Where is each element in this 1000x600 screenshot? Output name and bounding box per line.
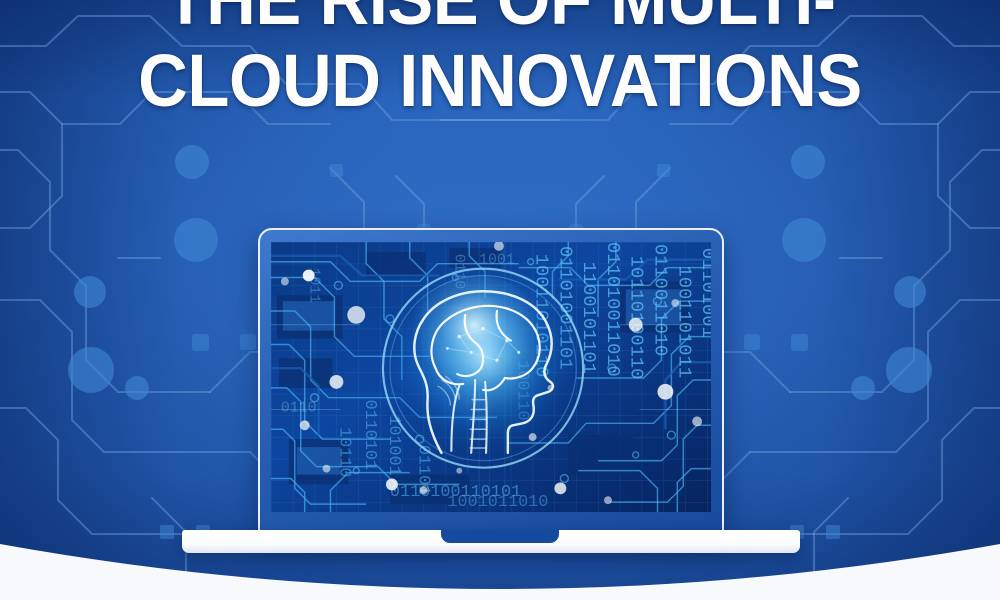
svg-text:011010011010: 011010011010 bbox=[602, 242, 624, 377]
laptop-illustration: 10011010110 01101001101 1100101101 01101… bbox=[258, 228, 742, 558]
svg-text:1001011010: 1001011010 bbox=[447, 493, 548, 512]
laptop-screen: 10011010110 01101001101 1100101101 01101… bbox=[271, 242, 711, 512]
svg-text:10110: 10110 bbox=[334, 427, 353, 477]
svg-text:0110: 0110 bbox=[281, 401, 317, 417]
poster-canvas: THE RISE OF MULTI- CLOUD INNOVATIONS bbox=[0, 0, 1000, 600]
laptop-lid: 10011010110 01101001101 1100101101 01101… bbox=[258, 228, 724, 538]
bottom-curve-decoration bbox=[0, 530, 1000, 600]
svg-text:1001101011: 1001101011 bbox=[673, 266, 695, 378]
svg-text:01101001: 01101001 bbox=[697, 248, 711, 338]
screen-ai-brain-graphic bbox=[380, 266, 586, 471]
svg-text:10110100110: 10110100110 bbox=[626, 256, 648, 380]
svg-text:0110011010: 0110011010 bbox=[649, 244, 671, 356]
svg-text:0110101: 0110101 bbox=[360, 400, 379, 470]
